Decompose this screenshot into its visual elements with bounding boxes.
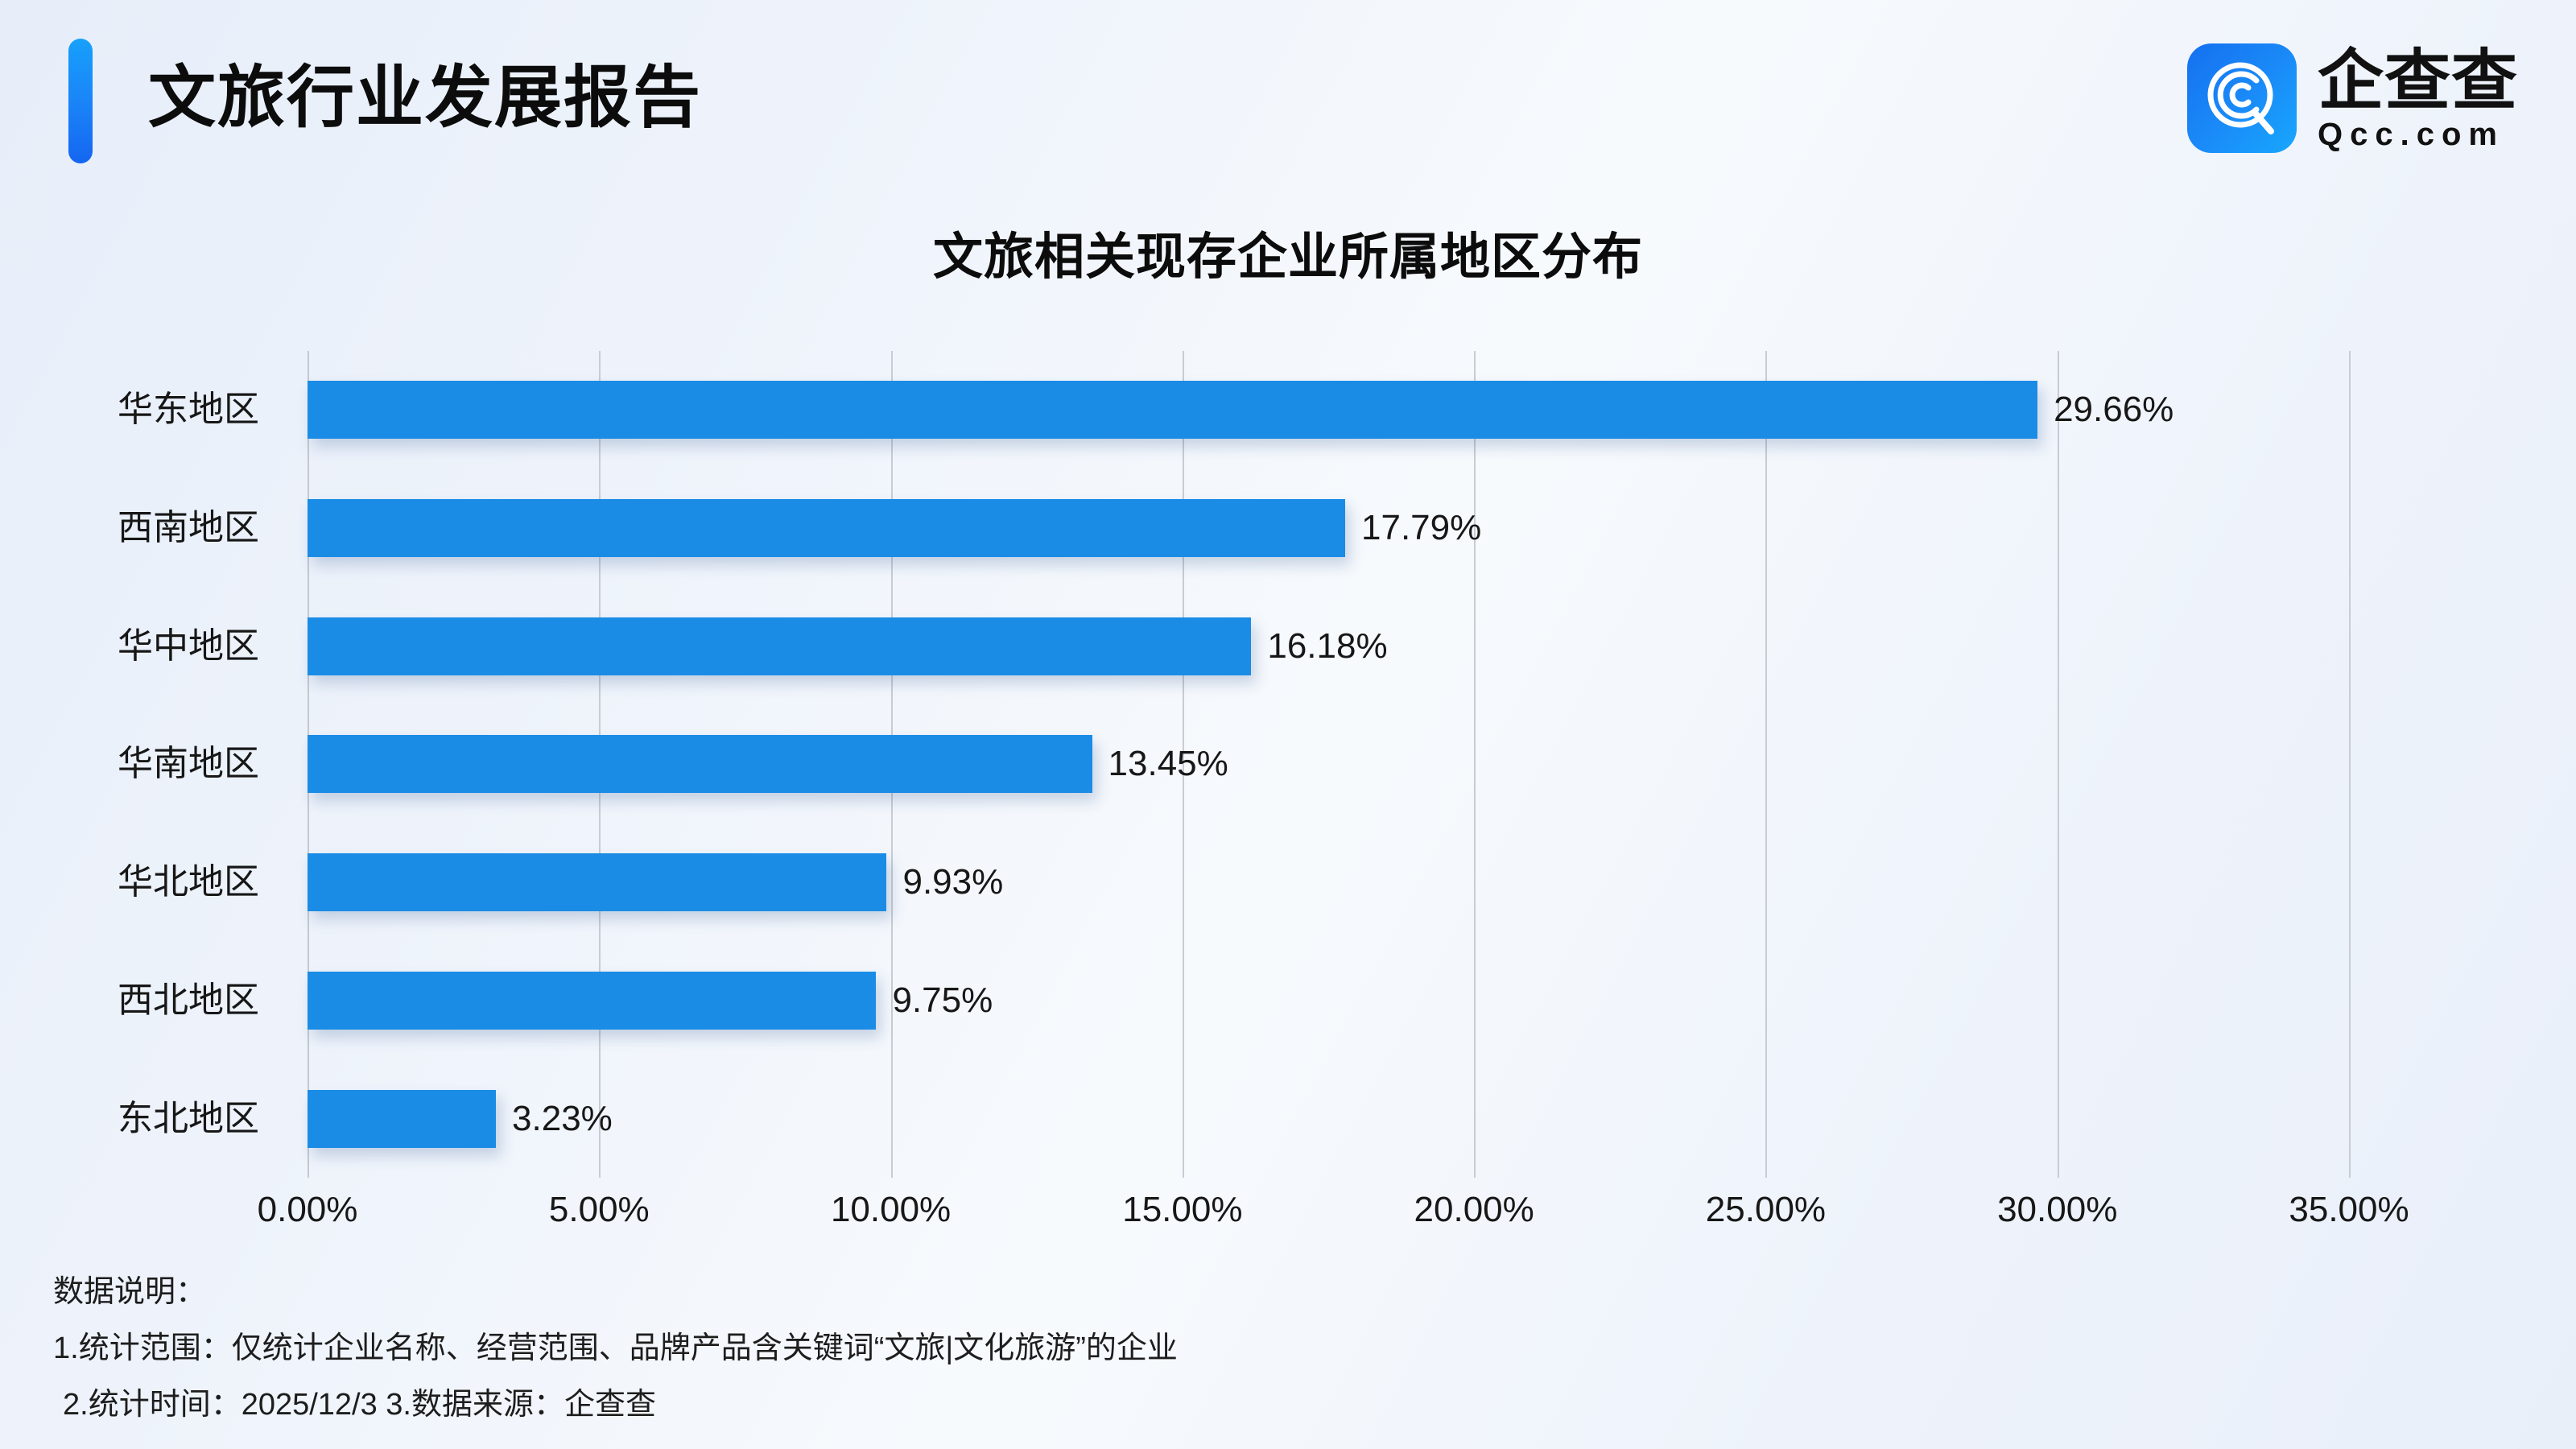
chart-bar-value-label: 29.66% [2054,381,2173,439]
qcc-q-logo-icon [2187,43,2297,153]
chart-bar-row: 17.79% [308,469,2349,588]
chart-bar-value-label: 9.93% [902,853,1003,911]
chart-bars: 29.66%17.79%16.18%13.45%9.93%9.75%3.23% [308,351,2349,1178]
chart-bar-row: 9.93% [308,824,2349,942]
chart-bar-row: 29.66% [308,351,2349,469]
chart-y-axis-labels: 华东地区西南地区华中地区华南地区华北地区西北地区东北地区 [0,351,283,1178]
chart-x-tick-label: 35.00% [2289,1190,2409,1230]
chart-bar-value-label: 16.18% [1267,617,1387,675]
chart-x-tick-label: 10.00% [831,1190,951,1230]
chart-bar[interactable] [308,381,2037,439]
chart-bar[interactable] [308,972,876,1030]
note-statistical-scope: 1.统计范围：仅统计企业名称、经营范围、品牌产品含关键词“文旅|文化旅游”的企业 [53,1320,2508,1377]
chart-bar-row: 9.75% [308,942,2349,1060]
chart-x-tick-label: 5.00% [549,1190,650,1230]
data-notes: 数据说明： 1.统计范围：仅统计企业名称、经营范围、品牌产品含关键词“文旅|文化… [53,1264,2508,1433]
chart-bar[interactable] [308,1090,496,1148]
brand-name-cn: 企查查 [2318,46,2518,117]
chart-bar-value-label: 13.45% [1108,735,1228,793]
page-header: 文旅行业发展报告 企查查 Qcc.com [0,0,2576,193]
chart-bar-row: 13.45% [308,705,2349,824]
note-time-and-source: 2.统计时间：2025/12/3 3.数据来源：企查查 [53,1377,2508,1433]
chart-category-label: 华南地区 [0,705,283,824]
chart-category-label: 华中地区 [0,587,283,705]
brand-logo: 企查查 Qcc.com [2187,42,2518,155]
brand-name-en: Qcc.com [2318,117,2518,152]
chart-plot-area: 29.66%17.79%16.18%13.45%9.93%9.75%3.23% [308,351,2349,1178]
chart-x-tick-label: 30.00% [1997,1190,2117,1230]
chart-category-label: 华北地区 [0,824,283,942]
chart-bar[interactable] [308,499,1345,557]
chart-x-tick-label: 15.00% [1122,1190,1242,1230]
chart-x-tick-label: 25.00% [1706,1190,1826,1230]
chart-bar-row: 3.23% [308,1059,2349,1178]
chart-x-axis-labels: 0.00%5.00%10.00%15.00%20.00%25.00%30.00%… [308,1190,2349,1246]
chart-title: 文旅相关现存企业所属地区分布 [0,216,2576,288]
chart-category-label: 东北地区 [0,1059,283,1178]
chart-bar[interactable] [308,735,1092,793]
chart-bar-value-label: 3.23% [512,1090,613,1148]
chart-x-tick-label: 0.00% [258,1190,358,1230]
gridline [2349,351,2351,1178]
chart-bar-row: 16.18% [308,587,2349,705]
chart-category-label: 西南地区 [0,469,283,588]
chart-category-label: 华东地区 [0,351,283,469]
chart-bar[interactable] [308,617,1251,675]
chart-bar-value-label: 17.79% [1361,499,1481,557]
chart-bar-value-label: 9.75% [892,972,993,1030]
page-title: 文旅行业发展报告 [148,37,702,158]
chart-category-label: 西北地区 [0,942,283,1060]
brand-wordmark: 企查查 Qcc.com [2318,43,2518,153]
chart-x-tick-label: 20.00% [1414,1190,1534,1230]
chart-bar[interactable] [308,853,886,911]
title-accent-bar [68,39,93,163]
notes-heading: 数据说明： [53,1264,2508,1320]
